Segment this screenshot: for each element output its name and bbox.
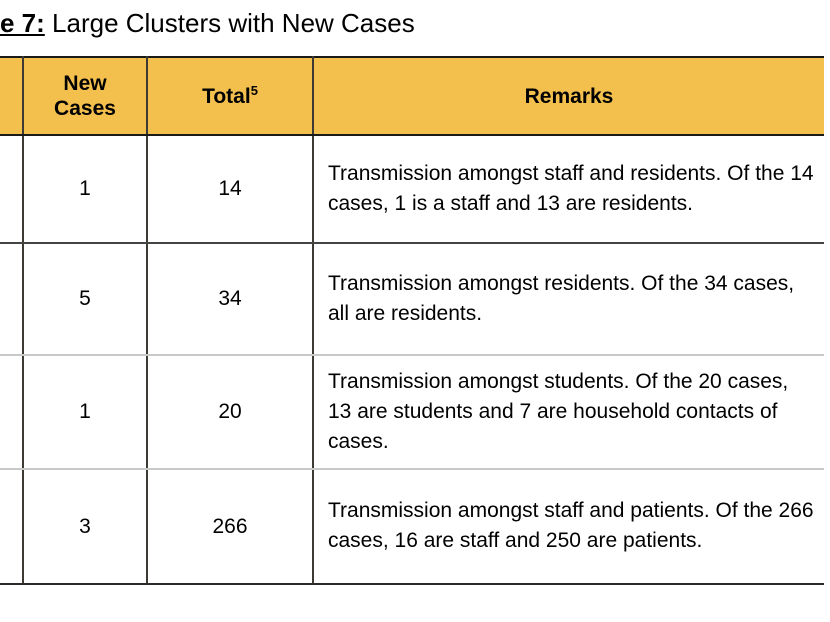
cell-total: 14 (147, 135, 313, 243)
table-row: 1 14 Transmission amongst staff and resi… (0, 135, 824, 243)
cell-cluster (0, 243, 23, 355)
large-clusters-table: New Cases Total5 Remarks 1 14 Transmissi… (0, 56, 824, 585)
table-caption-text: Large Clusters with New Cases (45, 8, 415, 38)
column-header-new-cases: New Cases (23, 57, 147, 135)
cell-new-cases: 1 (23, 355, 147, 469)
footnote-marker-5: 5 (251, 83, 258, 98)
cell-new-cases: 3 (23, 469, 147, 584)
column-header-cluster (0, 57, 23, 135)
column-header-total-label: Total (202, 85, 251, 108)
cell-remarks: Transmission amongst students. Of the 20… (313, 355, 824, 469)
cell-remarks: Transmission amongst staff and patients.… (313, 469, 824, 584)
table-row: 1 20 Transmission amongst students. Of t… (0, 355, 824, 469)
cell-remarks: Transmission amongst staff and residents… (313, 135, 824, 243)
cell-new-cases: 5 (23, 243, 147, 355)
cell-total: 266 (147, 469, 313, 584)
cell-total: 20 (147, 355, 313, 469)
cell-remarks: Transmission amongst residents. Of the 3… (313, 243, 824, 355)
cell-new-cases: 1 (23, 135, 147, 243)
column-header-remarks: Remarks (313, 57, 824, 135)
cell-cluster (0, 135, 23, 243)
cell-total: 34 (147, 243, 313, 355)
table-row: 5 34 Transmission amongst residents. Of … (0, 243, 824, 355)
cell-cluster (0, 355, 23, 469)
document-page: e 7: Large Clusters with New Cases New C… (0, 0, 830, 622)
table-header: New Cases Total5 Remarks (0, 57, 824, 135)
cell-cluster (0, 469, 23, 584)
table-body: 1 14 Transmission amongst staff and resi… (0, 135, 824, 584)
table-row: 3 266 Transmission amongst staff and pat… (0, 469, 824, 584)
table-header-row: New Cases Total5 Remarks (0, 57, 824, 135)
table-caption: e 7: Large Clusters with New Cases (0, 6, 830, 46)
column-header-total: Total5 (147, 57, 313, 135)
table-container: New Cases Total5 Remarks 1 14 Transmissi… (0, 56, 824, 585)
table-caption-label: e 7: (0, 8, 45, 38)
